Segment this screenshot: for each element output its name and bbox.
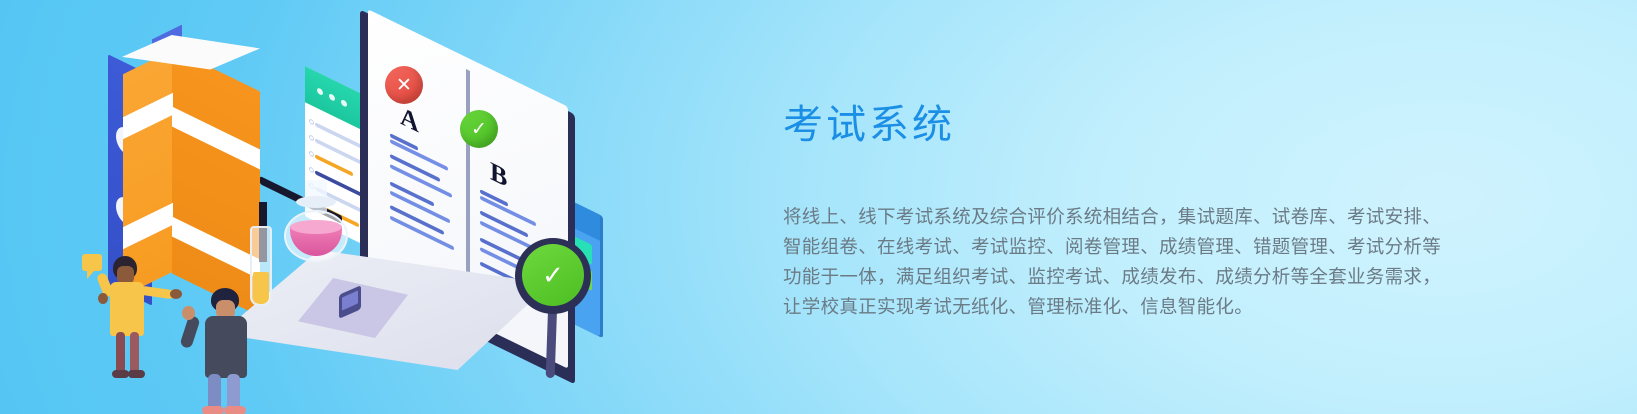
person-yellow-hand	[170, 289, 182, 299]
list-bullet	[309, 134, 314, 141]
check-icon: ✓	[542, 260, 564, 291]
window-dot-2	[329, 93, 335, 102]
person-hoodie-arm	[179, 315, 200, 349]
person-yellow-shoe-right	[128, 370, 145, 378]
person-hoodie-shoe-left	[202, 406, 224, 414]
speech-bubble	[82, 254, 102, 271]
speech-bubble-tail	[87, 271, 94, 279]
person-yellow-leg-right	[130, 332, 139, 374]
page-title: 考试系统	[783, 92, 955, 150]
correct-badge: ✓	[460, 110, 498, 148]
flask-liquid-surface	[290, 220, 342, 234]
person-hoodie-shoe-right	[224, 406, 246, 414]
person-hoodie-top	[205, 316, 247, 378]
online-exam-illustration: A B ✕ ✓ ✓	[60, 10, 620, 410]
test-tube-liquid	[253, 272, 269, 304]
person-yellow-shoe-left	[112, 370, 129, 378]
person-hoodie-leg-left	[208, 374, 221, 410]
person-yellow-leg-left	[116, 332, 125, 374]
badge-gloss	[385, 66, 423, 104]
person-yellow-dress	[110, 282, 144, 336]
banner-copy: 考试系统 将线上、线下考试系统及综合评价系统相结合，集试题库、试卷库、考试安排、…	[783, 0, 1503, 414]
person-yellow-hand-left	[98, 293, 108, 304]
banner-description: 将线上、线下考试系统及综合评价系统相结合，集试题库、试卷库、考试安排、 智能组卷…	[783, 203, 1493, 323]
list-bullet	[309, 166, 314, 173]
window-dot-3	[341, 99, 347, 108]
exam-system-banner: A B ✕ ✓ ✓	[0, 0, 1637, 414]
flask-clamp-ring	[296, 196, 336, 208]
description-line: 让学校真正实现考试无纸化、管理标准化、信息智能化。	[783, 293, 1493, 323]
description-line: 智能组卷、在线考试、考试监控、阅卷管理、成绩管理、错题管理、考试分析等	[783, 233, 1493, 263]
badge-gloss	[460, 110, 498, 148]
list-bullet	[309, 150, 314, 157]
person-hoodie-leg-right	[227, 374, 240, 410]
description-line: 将线上、线下考试系统及综合评价系统相结合，集试题库、试卷库、考试安排、	[783, 203, 1493, 233]
description-line: 功能于一体，满足组织考试、监控考试、成绩发布、成绩分析等全套业务需求，	[783, 263, 1493, 293]
list-bullet	[309, 118, 314, 125]
person-hoodie-hand	[182, 306, 195, 320]
orange-book-front	[172, 49, 260, 317]
window-dot-1	[317, 87, 323, 96]
magnifier-lens: ✓	[522, 244, 584, 306]
incorrect-badge: ✕	[385, 66, 423, 104]
